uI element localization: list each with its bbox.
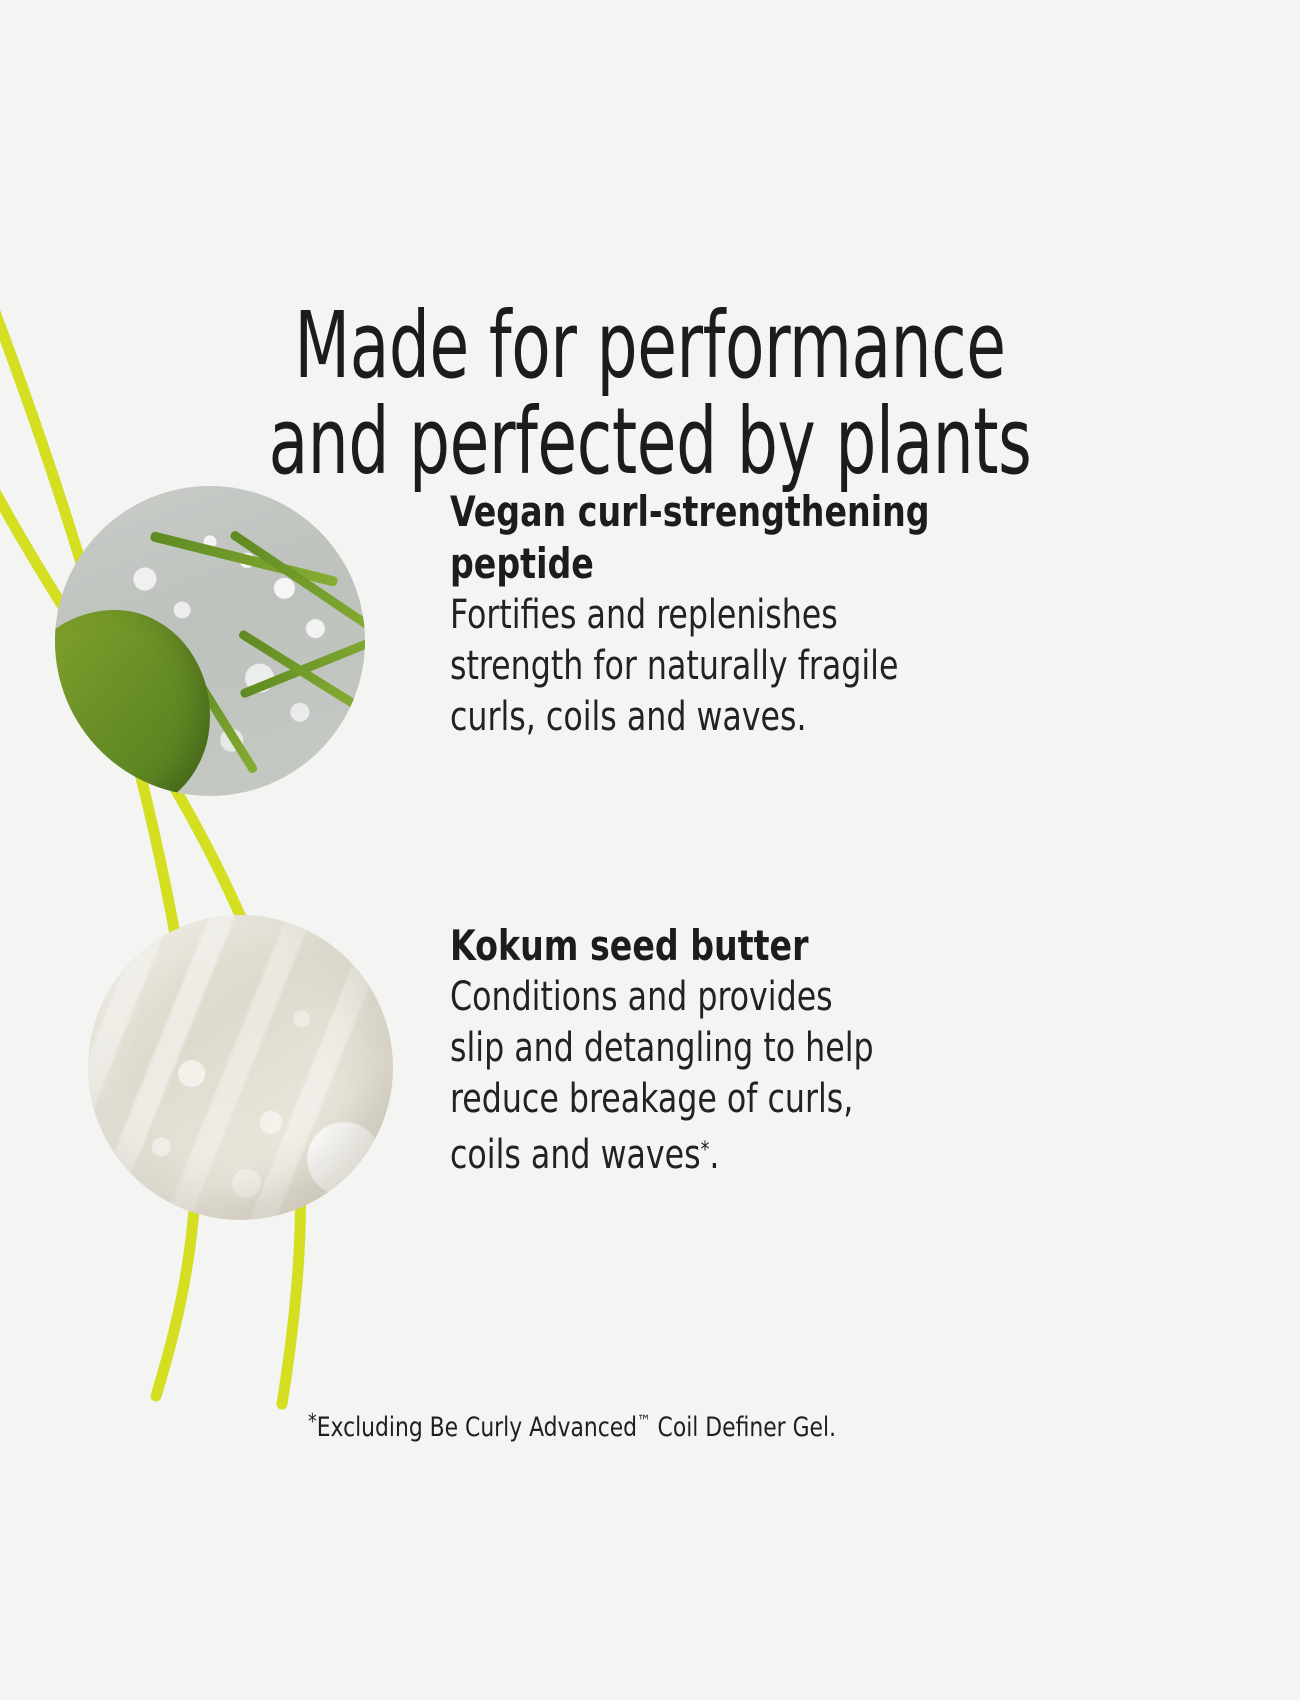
footnote-star: * — [308, 1410, 317, 1435]
leaf-water-texture — [55, 486, 365, 796]
footnote-text-before-tm: Excluding Be Curly Advanced — [317, 1412, 637, 1443]
butter-inner-shading — [88, 915, 393, 1220]
leaf-stem — [237, 629, 363, 712]
ingredient-description: Conditions and provides slip and detangl… — [450, 972, 952, 1181]
ingredient-copy-kokum: Kokum seed butter Conditions and provide… — [450, 920, 1020, 1181]
green-leaf-in-water-bubbles-thumbnail — [55, 486, 365, 796]
ingredient-title: Kokum seed butter — [450, 920, 952, 972]
trademark-icon: ™ — [637, 1411, 651, 1431]
page-title: Made for performance and perfected by pl… — [143, 298, 1157, 490]
ingredient-title: Vegan curl-strengthening peptide — [450, 486, 952, 590]
footnote-text-after-tm: Coil Definer Gel. — [651, 1412, 836, 1443]
ingredient-description-lines: Conditions and provides slip and detangl… — [450, 974, 874, 1178]
infographic-page: Made for performance and perfected by pl… — [0, 0, 1300, 1700]
green-leaf-shape — [55, 610, 210, 796]
ingredient-footnote-marker: * — [701, 1138, 710, 1163]
leaf-stem — [229, 529, 365, 637]
footnote: *Excluding Be Curly Advanced™ Coil Defin… — [308, 1405, 836, 1444]
ingredient-copy-peptide: Vegan curl-strengthening peptide Fortifi… — [450, 486, 1020, 743]
ingredient-description: Fortifies and replenishes strength for n… — [450, 590, 952, 743]
ingredient-description-period: . — [709, 1132, 719, 1178]
decorative-strands — [0, 0, 1300, 1700]
kokum-seed-butter-texture-thumbnail — [88, 915, 393, 1220]
